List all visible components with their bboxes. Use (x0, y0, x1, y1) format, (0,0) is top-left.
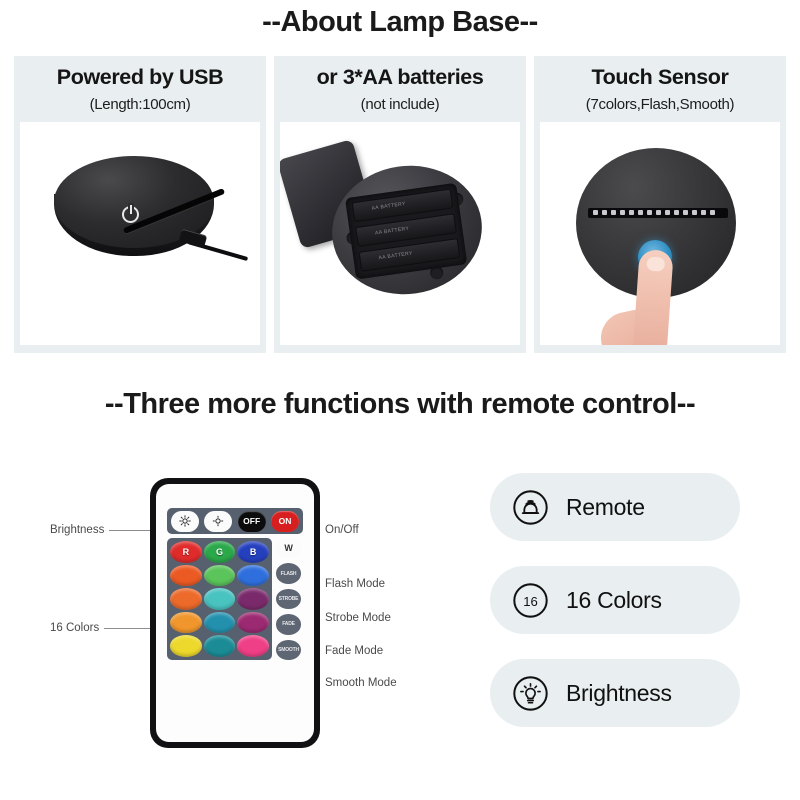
battery-slot-label: AA BATTERY (371, 201, 406, 212)
brightness-up-icon (179, 515, 191, 527)
feature-label: Remote (566, 494, 645, 521)
touch-scene (540, 122, 780, 345)
card-subtitle: (not include) (361, 96, 440, 113)
mode-button-strobe[interactable]: STROBE (276, 589, 301, 609)
power-off-button[interactable]: OFF (238, 511, 266, 532)
feature-pill-list: Remote 16 16 Colors (490, 473, 740, 752)
battery-compartment-photo: AA BATTERY AA BATTERY AA BATTERY (280, 122, 520, 345)
page-title-remote-functions: --Three more functions with remote contr… (0, 388, 800, 421)
callout-16-colors: 16 Colors (50, 622, 166, 634)
color-swatch-button[interactable] (170, 588, 202, 610)
lamp-base-card-row: Powered by USB (Length:100cm) or 3*AA ba… (14, 56, 786, 353)
battery-well: AA BATTERY AA BATTERY AA BATTERY (345, 183, 467, 280)
callout-label: Brightness (50, 524, 104, 536)
color-swatch-button[interactable] (204, 588, 236, 610)
power-symbol-icon (122, 206, 139, 223)
remote-top-button-row: OFF ON (167, 508, 303, 534)
color-swatch-button[interactable]: R (170, 541, 202, 563)
feature-pill-16-colors[interactable]: 16 16 Colors (490, 566, 740, 634)
mode-button-w[interactable]: W (276, 538, 301, 558)
remote-face: OFF ON RGB WFLASHSTROBEFADESMOOTH (156, 484, 314, 742)
usb-lamp-base-photo (20, 122, 260, 345)
brightness-down-button[interactable] (204, 511, 232, 532)
mode-button-flash[interactable]: FLASH (276, 563, 301, 583)
color-swatch-button[interactable] (237, 565, 269, 587)
color-swatch-button[interactable]: B (237, 541, 269, 563)
remote-color-grid: RGB (167, 538, 272, 660)
brightness-up-button[interactable] (171, 511, 199, 532)
led-strip-slot (588, 208, 728, 218)
card-subtitle: (Length:100cm) (90, 96, 191, 113)
color-swatch-button[interactable] (237, 612, 269, 634)
sixteen-circle-icon: 16 (512, 582, 549, 619)
battery-slot-label: AA BATTERY (375, 226, 410, 237)
callout-label: Fade Mode (325, 645, 383, 657)
page-title-lamp-base: --About Lamp Base-- (0, 6, 800, 39)
card-touch-sensor: Touch Sensor (7colors,Flash,Smooth) (534, 56, 786, 353)
feature-pill-remote[interactable]: Remote (490, 473, 740, 541)
callout-label: Flash Mode (325, 578, 385, 590)
touch-sensor-photo (540, 122, 780, 345)
callout-label: Smooth Mode (325, 677, 397, 689)
card-subtitle: (7colors,Flash,Smooth) (586, 96, 734, 113)
card-title: Touch Sensor (592, 64, 729, 91)
color-swatch-button[interactable] (237, 588, 269, 610)
battery-scene: AA BATTERY AA BATTERY AA BATTERY (280, 122, 520, 345)
callout-label: On/Off (325, 524, 359, 536)
lightbulb-icon (512, 675, 549, 712)
color-swatch-button[interactable] (170, 635, 202, 657)
power-on-button[interactable]: ON (271, 511, 299, 532)
callout-label: 16 Colors (50, 622, 99, 634)
usb-scene (20, 122, 260, 345)
brightness-down-icon (212, 515, 224, 527)
feature-pill-brightness[interactable]: Brightness (490, 659, 740, 727)
remote-body: OFF ON RGB WFLASHSTROBEFADESMOOTH (150, 478, 320, 748)
mode-button-fade[interactable]: FADE (276, 614, 301, 634)
remote-signal-icon (512, 489, 549, 526)
color-swatch-button[interactable]: G (204, 541, 236, 563)
remote-control[interactable]: OFF ON RGB WFLASHSTROBEFADESMOOTH (150, 478, 320, 748)
mode-button-smooth[interactable]: SMOOTH (276, 640, 301, 660)
infographic-page: --About Lamp Base-- Powered by USB (Leng… (0, 0, 800, 800)
sixteen-badge-text: 16 (523, 593, 538, 608)
card-aa-batteries: or 3*AA batteries (not include) AA BATTE… (274, 56, 526, 353)
callout-label: Strobe Mode (325, 612, 391, 624)
pointing-finger (632, 249, 673, 345)
feature-label: Brightness (566, 680, 672, 707)
color-swatch-button[interactable] (237, 635, 269, 657)
battery-slot-label: AA BATTERY (378, 250, 413, 261)
color-swatch-button[interactable] (170, 565, 202, 587)
color-swatch-button[interactable] (170, 612, 202, 634)
card-powered-by-usb: Powered by USB (Length:100cm) (14, 56, 266, 353)
color-swatch-button[interactable] (204, 635, 236, 657)
feature-label: 16 Colors (566, 587, 662, 614)
color-swatch-button[interactable] (204, 565, 236, 587)
color-swatch-button[interactable] (204, 612, 236, 634)
remote-mode-button-column: WFLASHSTROBEFADESMOOTH (274, 538, 303, 660)
card-title: or 3*AA batteries (317, 64, 484, 91)
card-title: Powered by USB (57, 64, 223, 91)
